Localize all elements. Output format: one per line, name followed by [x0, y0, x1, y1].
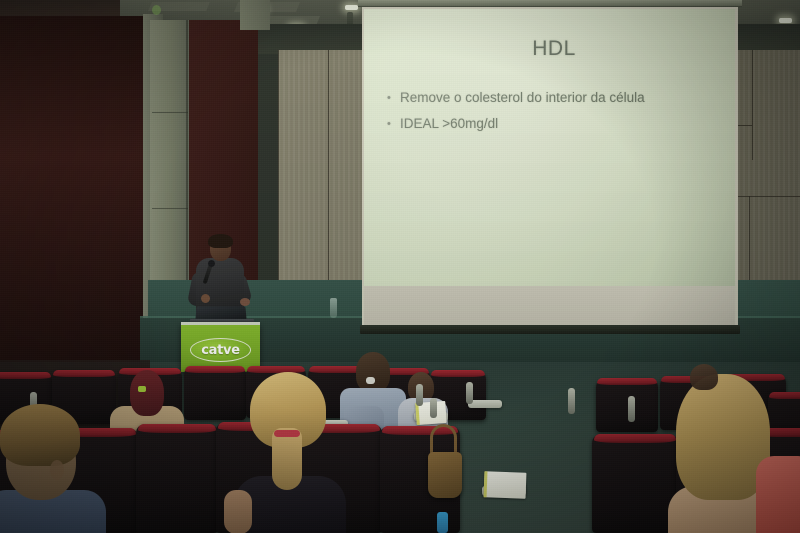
wood-panel-seam — [752, 50, 753, 160]
projected-slide-area: HDL Remove o colesterol do interior da c… — [364, 9, 735, 286]
screen-bottom-weight-bar — [360, 325, 740, 334]
audience-member — [228, 372, 346, 533]
seat-armrest — [416, 384, 423, 406]
slide-bullet-item: IDEAL >60mg/dl — [400, 113, 730, 135]
water-bottle — [437, 512, 448, 533]
column-seam — [152, 208, 188, 209]
handbag — [428, 452, 462, 498]
presenter-hair — [208, 234, 233, 248]
hair-tie — [274, 430, 300, 437]
seat — [136, 424, 218, 533]
catve-logo: catve — [190, 338, 251, 362]
wood-panel-seam — [278, 50, 279, 318]
catve-logo-text: catve — [201, 343, 239, 358]
ceiling-downlight — [345, 5, 358, 10]
seat-armrest — [628, 396, 635, 422]
screen-blank-lower — [364, 286, 735, 327]
audience-hair — [690, 364, 718, 390]
slide-title: HDL — [378, 37, 730, 61]
wall-maroon-left — [0, 16, 152, 416]
folding-desk — [468, 400, 502, 408]
presenter-hand-right — [240, 298, 250, 306]
audience-shoulder — [224, 490, 252, 533]
slide-bullet-item: Remove o colesterol do interior da célul… — [400, 87, 730, 109]
seat — [596, 378, 658, 432]
audience-ear — [50, 460, 64, 480]
wood-panel-seam — [328, 50, 329, 318]
audience-hair — [356, 352, 390, 392]
wall-column-top-stub — [240, 0, 270, 30]
audience-torso — [756, 456, 800, 533]
audience-hair — [0, 404, 80, 466]
slide-bullet-list: Remove o colesterol do interior da célul… — [378, 87, 730, 135]
audience-ponytail — [272, 428, 302, 490]
audience-member — [756, 438, 800, 533]
seat-armrest — [568, 388, 575, 414]
hair-clip — [138, 386, 146, 392]
auditorium-photo: HDL Remove o colesterol do interior da c… — [0, 0, 800, 533]
microphone-capsule-icon — [208, 260, 215, 267]
hair-clip — [366, 377, 375, 384]
notebook — [484, 471, 527, 498]
audience-member — [0, 404, 100, 533]
slide-content: HDL Remove o colesterol do interior da c… — [378, 25, 730, 275]
seat-armrest — [466, 382, 473, 404]
screen-roller-rail — [358, 0, 742, 7]
podium: catve — [181, 322, 260, 372]
column-seam — [152, 112, 188, 113]
audience-member — [672, 368, 736, 420]
laptop-screen — [195, 306, 246, 320]
seat-armrest — [430, 398, 437, 418]
presenter-hand-left — [201, 294, 210, 303]
projection-screen: HDL Remove o colesterol do interior da c… — [358, 0, 742, 334]
water-bottle-on-stage — [330, 298, 337, 318]
audience-hair — [130, 370, 164, 416]
wall-emergency-light-icon — [152, 5, 161, 15]
ceiling-downlight — [779, 18, 792, 23]
